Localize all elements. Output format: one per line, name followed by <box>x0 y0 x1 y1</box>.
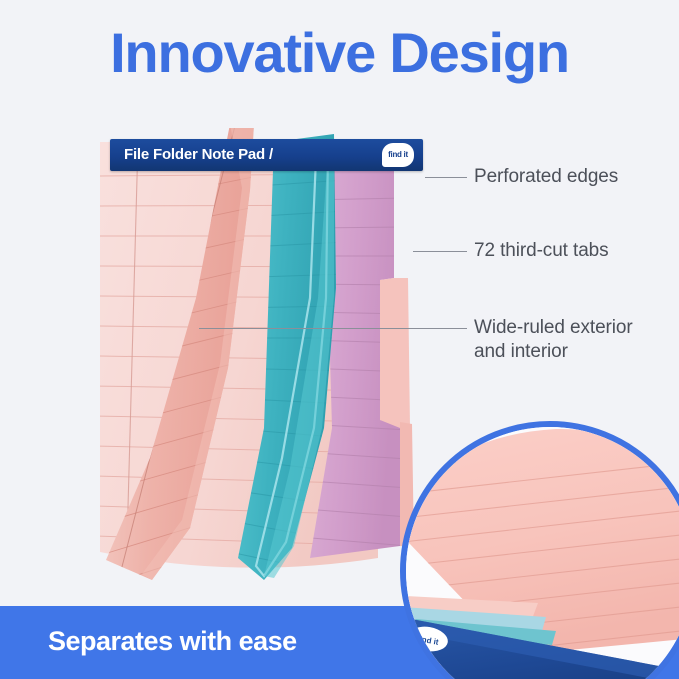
product-illustration <box>78 128 458 598</box>
product-label-text: File Folder Note Pad / <box>124 146 273 163</box>
banner-text: Separates with ease <box>48 626 297 657</box>
callout-wide-ruled: Wide-ruled exterior and interior <box>474 316 633 363</box>
page-title: Innovative Design <box>0 24 679 81</box>
leader-line-third-cut-tabs <box>413 251 467 252</box>
infographic-canvas: Innovative Design <box>0 0 679 679</box>
brand-name: find it <box>388 151 408 159</box>
product-photo <box>78 128 458 598</box>
close-up-illustration: find it Note Pad / 3-Tab <box>406 427 679 679</box>
leader-line-perforated-edges <box>425 177 467 178</box>
find-it-logo: find it <box>382 143 414 167</box>
leader-line-wide-ruled <box>199 328 467 329</box>
callout-perforated-edges: Perforated edges <box>474 165 618 189</box>
product-label-bar: File Folder Note Pad / find it <box>110 139 423 171</box>
callout-third-cut-tabs: 72 third-cut tabs <box>474 239 609 263</box>
